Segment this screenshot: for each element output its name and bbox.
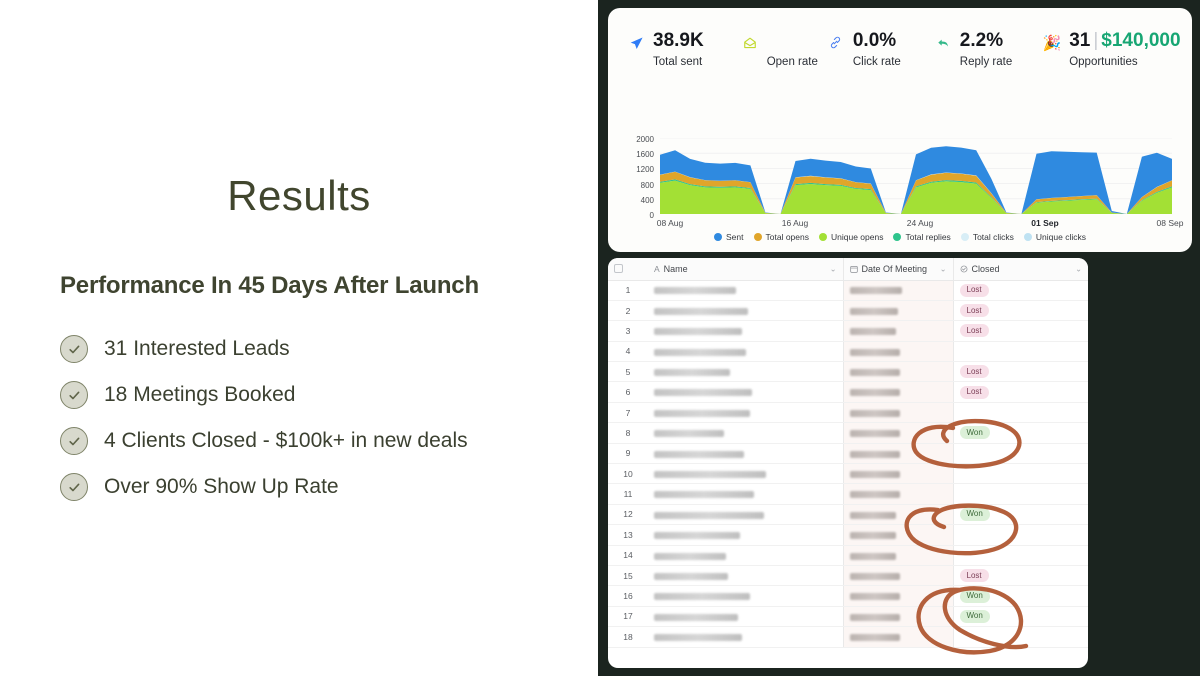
date-of-meeting-cell[interactable] xyxy=(843,321,953,341)
chart-legend: SentTotal opensUnique opensTotal replies… xyxy=(608,232,1192,242)
redacted-date xyxy=(850,634,900,641)
redacted-date xyxy=(850,430,900,437)
name-cell[interactable] xyxy=(648,300,843,320)
check-circle-icon xyxy=(60,427,88,455)
date-of-meeting-cell[interactable] xyxy=(843,606,953,626)
legend-item[interactable]: Total opens xyxy=(754,232,809,242)
row-number-cell: 6 xyxy=(608,382,648,402)
name-cell[interactable] xyxy=(648,545,843,565)
table-row[interactable]: 6Lost xyxy=(608,382,1088,402)
closed-status-cell[interactable]: Lost xyxy=(953,280,1088,300)
column-header-label: Name xyxy=(664,264,688,274)
check-circle-icon xyxy=(60,381,88,409)
legend-label: Unique opens xyxy=(831,232,883,242)
stat-label: Opportunities xyxy=(1069,56,1180,68)
status-badge: Lost xyxy=(960,304,989,317)
y-axis-tick-label: 800 xyxy=(641,182,654,190)
date-of-meeting-cell[interactable] xyxy=(843,504,953,524)
redacted-email xyxy=(654,553,726,560)
redacted-email xyxy=(654,491,754,498)
section-subheading: Performance In 45 Days After Launch xyxy=(60,272,580,300)
table-row[interactable]: 10 xyxy=(608,464,1088,484)
redacted-date xyxy=(850,532,896,539)
date-of-meeting-cell[interactable] xyxy=(843,443,953,463)
date-of-meeting-cell[interactable] xyxy=(843,586,953,606)
date-of-meeting-cell[interactable] xyxy=(843,525,953,545)
redacted-email xyxy=(654,451,744,458)
stat-value xyxy=(767,30,818,52)
redacted-date xyxy=(850,614,900,621)
redacted-email xyxy=(654,410,750,417)
row-number-cell: 5 xyxy=(608,362,648,382)
column-header-label: Closed xyxy=(972,264,1000,274)
status-badge: Lost xyxy=(960,365,989,378)
stat-click-rate: 0.0% Click rate xyxy=(826,30,901,68)
stat-total-sent: 38.9K Total sent xyxy=(626,30,704,68)
closed-status-cell[interactable]: Won xyxy=(953,423,1088,443)
table-row[interactable]: 5Lost xyxy=(608,362,1088,382)
date-of-meeting-cell[interactable] xyxy=(843,362,953,382)
paper-plane-icon xyxy=(626,30,646,55)
redacted-email xyxy=(654,532,740,539)
chart-x-axis: 08 Aug16 Aug24 Aug01 Sep08 Sep xyxy=(648,218,1188,232)
y-axis-tick-label: 1600 xyxy=(636,151,654,159)
stat-value-count: 31 xyxy=(1069,30,1090,51)
chevron-down-icon[interactable]: ⌄ xyxy=(1075,264,1082,273)
legend-color-dot xyxy=(714,233,722,241)
row-number-cell: 10 xyxy=(608,464,648,484)
stat-reply-rate: 2.2% Reply rate xyxy=(933,30,1012,68)
table-row[interactable]: 3Lost xyxy=(608,321,1088,341)
name-cell[interactable] xyxy=(648,382,843,402)
row-number-cell: 2 xyxy=(608,300,648,320)
closed-status-cell[interactable]: Won xyxy=(953,586,1088,606)
closed-status-cell[interactable] xyxy=(953,484,1088,504)
legend-color-dot xyxy=(1024,233,1032,241)
name-cell[interactable] xyxy=(648,423,843,443)
redacted-date xyxy=(850,369,900,376)
table-row[interactable]: 16Won xyxy=(608,586,1088,606)
closed-status-cell[interactable] xyxy=(953,341,1088,361)
redacted-email xyxy=(654,512,764,519)
closed-status-cell[interactable]: Lost xyxy=(953,321,1088,341)
column-header-closed[interactable]: Closed ⌄ xyxy=(953,258,1088,280)
table-body: 1Lost2Lost3Lost45Lost6Lost78Won9101112Wo… xyxy=(608,280,1088,647)
redacted-email xyxy=(654,328,742,335)
redacted-email xyxy=(654,634,742,641)
row-number-cell: 15 xyxy=(608,565,648,585)
check-circle-small-icon xyxy=(960,265,968,273)
list-item-label: Over 90% Show Up Rate xyxy=(104,475,339,499)
status-badge: Lost xyxy=(960,386,989,399)
list-item-label: 18 Meetings Booked xyxy=(104,383,295,407)
redacted-date xyxy=(850,410,900,417)
redacted-date xyxy=(850,287,902,294)
row-number-cell: 4 xyxy=(608,341,648,361)
row-number-cell: 9 xyxy=(608,443,648,463)
x-axis-tick-label: 08 Sep xyxy=(1157,218,1184,228)
redacted-email xyxy=(654,349,746,356)
legend-item[interactable]: Sent xyxy=(714,232,744,242)
row-number-cell: 1 xyxy=(608,280,648,300)
list-item-label: 31 Interested Leads xyxy=(104,337,290,361)
chart-svg xyxy=(660,138,1172,214)
left-content-panel: Results Performance In 45 Days After Lau… xyxy=(0,0,598,676)
chart-y-axis: 0400800120016002000 xyxy=(618,132,654,220)
name-cell[interactable] xyxy=(648,586,843,606)
y-axis-tick-label: 2000 xyxy=(636,136,654,144)
y-axis-tick-label: 1200 xyxy=(636,166,654,174)
closed-status-cell[interactable] xyxy=(953,627,1088,647)
row-number-cell: 8 xyxy=(608,423,648,443)
campaign-analytics-card: 38.9K Total sent Open rate xyxy=(608,8,1192,252)
table-row[interactable]: 17Won xyxy=(608,606,1088,626)
redacted-date xyxy=(850,389,900,396)
stat-value: 0.0% xyxy=(853,30,901,52)
redacted-email xyxy=(654,593,750,600)
status-badge: Won xyxy=(960,508,990,521)
row-number-cell: 14 xyxy=(608,545,648,565)
name-cell[interactable] xyxy=(648,606,843,626)
stat-label: Total sent xyxy=(653,56,704,68)
closed-status-cell[interactable] xyxy=(953,545,1088,565)
stat-value: 2.2% xyxy=(960,30,1012,52)
redacted-date xyxy=(850,451,900,458)
party-popper-icon: 🎉 xyxy=(1042,30,1062,51)
stat-value-amount: $140,000 xyxy=(1101,30,1180,51)
redacted-date xyxy=(850,573,900,580)
stat-label: Reply rate xyxy=(960,56,1012,68)
redacted-date xyxy=(850,593,900,600)
legend-label: Total opens xyxy=(766,232,809,242)
text-field-icon: A xyxy=(654,264,660,274)
closed-status-cell[interactable]: Won xyxy=(953,606,1088,626)
table-row[interactable]: 1Lost xyxy=(608,280,1088,300)
date-of-meeting-cell[interactable] xyxy=(843,402,953,422)
closed-status-cell[interactable] xyxy=(953,464,1088,484)
table-row[interactable]: 7 xyxy=(608,402,1088,422)
row-number-cell: 18 xyxy=(608,627,648,647)
redacted-email xyxy=(654,389,752,396)
legend-item[interactable]: Total replies xyxy=(893,232,950,242)
stat-open-rate: Open rate xyxy=(740,30,818,68)
closed-status-cell[interactable] xyxy=(953,402,1088,422)
redacted-email xyxy=(654,614,738,621)
name-cell[interactable] xyxy=(648,525,843,545)
legend-color-dot xyxy=(961,233,969,241)
list-item-label: 4 Clients Closed - $100k+ in new deals xyxy=(104,429,468,453)
redacted-date xyxy=(850,512,896,519)
stat-value: 38.9K xyxy=(653,30,704,52)
redacted-date xyxy=(850,471,900,478)
legend-label: Unique clicks xyxy=(1036,232,1086,242)
table-row[interactable]: 4 xyxy=(608,341,1088,361)
column-header-select[interactable] xyxy=(608,258,648,280)
status-badge: Won xyxy=(960,426,990,439)
legend-color-dot xyxy=(754,233,762,241)
engagement-area-chart: 0400800120016002000 08 Aug16 Aug24 Aug01… xyxy=(608,130,1192,252)
row-number-cell: 11 xyxy=(608,484,648,504)
redacted-email xyxy=(654,430,724,437)
closed-status-cell[interactable]: Lost xyxy=(953,382,1088,402)
x-axis-tick-label: 01 Sep xyxy=(1031,218,1058,228)
name-cell[interactable] xyxy=(648,627,843,647)
row-number-cell: 16 xyxy=(608,586,648,606)
name-cell[interactable] xyxy=(648,443,843,463)
name-cell[interactable] xyxy=(648,402,843,422)
redacted-email xyxy=(654,308,748,315)
status-badge: Lost xyxy=(960,324,989,337)
chart-plot-area xyxy=(660,138,1172,214)
closed-status-cell[interactable]: Lost xyxy=(953,362,1088,382)
status-badge: Lost xyxy=(960,284,989,297)
stat-label: Click rate xyxy=(853,56,901,68)
date-of-meeting-cell[interactable] xyxy=(843,300,953,320)
screenshot-backdrop-panel: 38.9K Total sent Open rate xyxy=(598,0,1200,676)
redacted-date xyxy=(850,553,896,560)
legend-label: Total clicks xyxy=(973,232,1014,242)
stats-summary-row: 38.9K Total sent Open rate xyxy=(608,8,1192,68)
date-of-meeting-cell[interactable] xyxy=(843,565,953,585)
open-envelope-icon xyxy=(740,30,760,54)
date-of-meeting-cell[interactable] xyxy=(843,341,953,361)
closed-status-cell[interactable] xyxy=(953,525,1088,545)
check-circle-icon xyxy=(60,473,88,501)
legend-color-dot xyxy=(819,233,827,241)
chevron-down-icon[interactable]: ⌄ xyxy=(830,264,837,273)
name-cell[interactable] xyxy=(648,504,843,524)
list-item: 18 Meetings Booked xyxy=(60,372,580,418)
date-of-meeting-cell[interactable] xyxy=(843,382,953,402)
slide-root: Results Performance In 45 Days After Lau… xyxy=(0,0,1200,676)
redacted-email xyxy=(654,287,736,294)
column-header-name[interactable]: A Name ⌄ xyxy=(648,258,843,280)
row-number-cell: 17 xyxy=(608,606,648,626)
x-axis-tick-label: 24 Aug xyxy=(907,218,933,228)
table-row[interactable]: 18 xyxy=(608,627,1088,647)
stat-label: Open rate xyxy=(767,56,818,68)
status-badge: Won xyxy=(960,590,990,603)
column-header-date[interactable]: Date Of Meeting ⌄ xyxy=(843,258,953,280)
stat-opportunities: 🎉 31|$140,000 Opportunities xyxy=(1042,30,1180,68)
date-of-meeting-cell[interactable] xyxy=(843,484,953,504)
list-item: Over 90% Show Up Rate xyxy=(60,464,580,510)
crm-deals-table-card: A Name ⌄ Date Of Meeting xyxy=(608,258,1088,668)
legend-label: Sent xyxy=(726,232,744,242)
table-row[interactable]: 11 xyxy=(608,484,1088,504)
name-cell[interactable] xyxy=(648,362,843,382)
name-cell[interactable] xyxy=(648,280,843,300)
table-row[interactable]: 14 xyxy=(608,545,1088,565)
results-bullet-list: 31 Interested Leads 18 Meetings Booked 4… xyxy=(60,326,580,510)
link-icon xyxy=(826,30,846,53)
value-divider: | xyxy=(1090,30,1101,51)
closed-status-cell[interactable]: Lost xyxy=(953,300,1088,320)
calendar-icon xyxy=(850,265,858,273)
reply-arrow-icon xyxy=(933,30,953,54)
redacted-date xyxy=(850,491,900,498)
row-number-cell: 3 xyxy=(608,321,648,341)
closed-status-cell[interactable] xyxy=(953,443,1088,463)
date-of-meeting-cell[interactable] xyxy=(843,627,953,647)
legend-item[interactable]: Total clicks xyxy=(961,232,1014,242)
redacted-email xyxy=(654,471,766,478)
name-cell[interactable] xyxy=(648,341,843,361)
table-row[interactable]: 12Won xyxy=(608,504,1088,524)
list-item: 31 Interested Leads xyxy=(60,326,580,372)
table-row[interactable]: 9 xyxy=(608,443,1088,463)
date-of-meeting-cell[interactable] xyxy=(843,423,953,443)
name-cell[interactable] xyxy=(648,321,843,341)
legend-item[interactable]: Unique opens xyxy=(819,232,883,242)
table-row[interactable]: 2Lost xyxy=(608,300,1088,320)
legend-item[interactable]: Unique clicks xyxy=(1024,232,1086,242)
table-row[interactable]: 15Lost xyxy=(608,565,1088,585)
deals-table: A Name ⌄ Date Of Meeting xyxy=(608,258,1088,648)
table-header-row: A Name ⌄ Date Of Meeting xyxy=(608,258,1088,280)
name-cell[interactable] xyxy=(648,464,843,484)
y-axis-tick-label: 400 xyxy=(641,197,654,205)
status-badge: Won xyxy=(960,610,990,623)
select-all-checkbox[interactable] xyxy=(614,264,623,273)
date-of-meeting-cell[interactable] xyxy=(843,545,953,565)
row-number-cell: 13 xyxy=(608,525,648,545)
legend-color-dot xyxy=(893,233,901,241)
list-item: 4 Clients Closed - $100k+ in new deals xyxy=(60,418,580,464)
redacted-email xyxy=(654,369,730,376)
redacted-email xyxy=(654,573,728,580)
x-axis-tick-label: 16 Aug xyxy=(782,218,808,228)
legend-label: Total replies xyxy=(905,232,950,242)
x-axis-tick-label: 08 Aug xyxy=(657,218,683,228)
closed-status-cell[interactable]: Lost xyxy=(953,565,1088,585)
date-of-meeting-cell[interactable] xyxy=(843,280,953,300)
status-badge: Lost xyxy=(960,569,989,582)
row-number-cell: 12 xyxy=(608,504,648,524)
row-number-cell: 7 xyxy=(608,402,648,422)
table-row[interactable]: 13 xyxy=(608,525,1088,545)
name-cell[interactable] xyxy=(648,565,843,585)
chevron-down-icon[interactable]: ⌄ xyxy=(940,264,947,273)
name-cell[interactable] xyxy=(648,484,843,504)
page-title: Results xyxy=(0,172,598,220)
redacted-date xyxy=(850,349,900,356)
closed-status-cell[interactable]: Won xyxy=(953,504,1088,524)
date-of-meeting-cell[interactable] xyxy=(843,464,953,484)
redacted-date xyxy=(850,328,896,335)
column-header-label: Date Of Meeting xyxy=(862,264,928,274)
redacted-date xyxy=(850,308,898,315)
check-circle-icon xyxy=(60,335,88,363)
table-row[interactable]: 8Won xyxy=(608,423,1088,443)
